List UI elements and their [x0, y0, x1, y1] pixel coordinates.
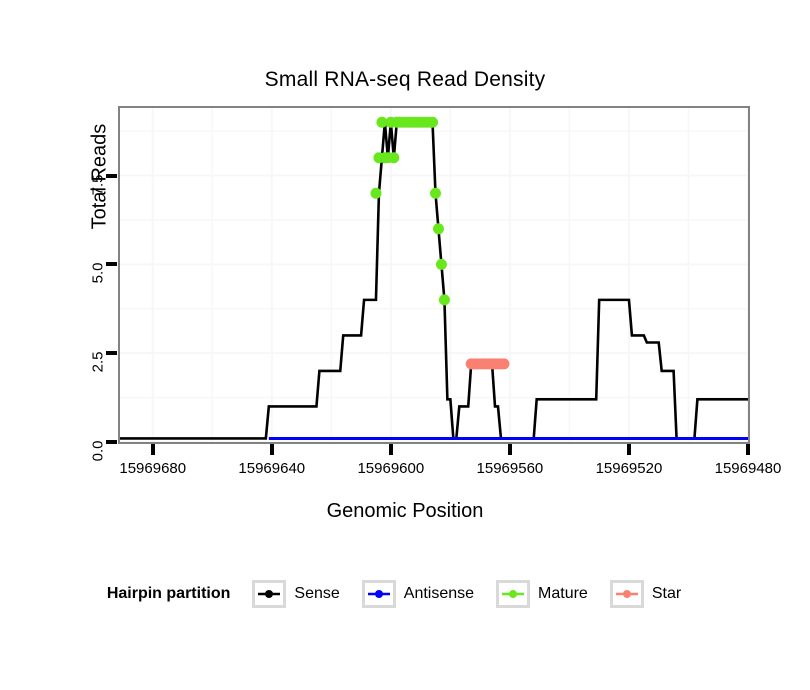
data-point	[370, 188, 381, 199]
chart-title: Small RNA-seq Read Density	[0, 68, 810, 92]
legend-item-antisense[interactable]: Antisense	[362, 580, 488, 608]
data-point	[436, 259, 447, 270]
plot-panel	[118, 106, 750, 444]
legend-label: Sense	[294, 585, 339, 603]
chart-root: Small RNA-seq Read Density Total Reads 0…	[0, 0, 810, 690]
legend: Hairpin partition SenseAntisenseMatureSt…	[0, 580, 810, 608]
legend-item-sense[interactable]: Sense	[252, 580, 353, 608]
x-axis-title: Genomic Position	[0, 500, 810, 523]
x-tick-label: 15969520	[569, 460, 689, 477]
x-tick-label: 15969680	[93, 460, 213, 477]
data-point	[439, 294, 450, 305]
data-point	[388, 152, 399, 163]
x-tick-label: 15969480	[688, 460, 808, 477]
data-point	[427, 117, 438, 128]
legend-item-mature[interactable]: Mature	[496, 580, 602, 608]
y-tick-mark	[106, 262, 117, 266]
y-tick-mark	[106, 174, 117, 178]
series-line-sense	[120, 122, 748, 438]
legend-item-star[interactable]: Star	[610, 580, 695, 608]
y-tick-label: 2.5	[90, 352, 107, 432]
data-point	[498, 358, 509, 369]
data-point	[433, 223, 444, 234]
y-tick-label: 5.0	[90, 263, 107, 343]
y-tick-mark	[106, 351, 117, 355]
x-tick-mark	[151, 444, 155, 455]
data-series-layer	[120, 117, 748, 439]
x-tick-mark	[389, 444, 393, 455]
legend-key-icon	[362, 580, 396, 608]
legend-key-icon	[610, 580, 644, 608]
x-tick-label: 15969560	[450, 460, 570, 477]
x-tick-mark	[746, 444, 750, 455]
legend-label: Star	[652, 585, 681, 603]
y-tick-mark	[106, 440, 117, 444]
legend-label: Mature	[538, 585, 588, 603]
x-tick-mark	[627, 444, 631, 455]
legend-title: Hairpin partition	[107, 585, 231, 603]
legend-key-icon	[252, 580, 286, 608]
x-tick-label: 15969640	[212, 460, 332, 477]
x-tick-label: 15969600	[331, 460, 451, 477]
legend-key-icon	[496, 580, 530, 608]
y-tick-label: 7.5	[90, 174, 107, 254]
x-tick-mark	[508, 444, 512, 455]
data-point	[430, 188, 441, 199]
x-tick-mark	[270, 444, 274, 455]
legend-label: Antisense	[404, 585, 474, 603]
plot-canvas	[120, 108, 748, 442]
